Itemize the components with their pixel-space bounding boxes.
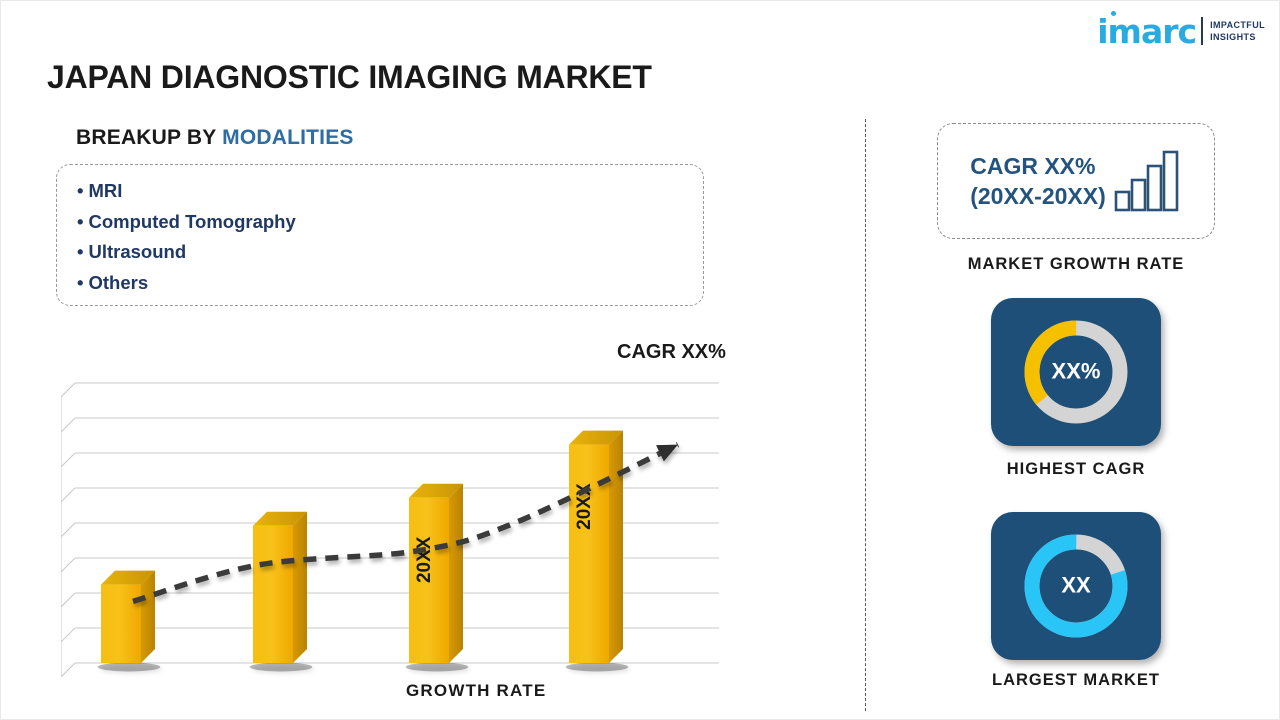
list-item: •MRI bbox=[77, 176, 296, 207]
largest-market-caption: LARGEST MARKET bbox=[937, 671, 1215, 690]
logo-divider bbox=[1201, 17, 1203, 45]
bullet-icon: • bbox=[77, 272, 83, 293]
cagr-box-text: CAGR XX% (20XX-20XX) bbox=[970, 151, 1106, 211]
bar bbox=[569, 431, 623, 663]
market-growth-rate-caption: MARKET GROWTH RATE bbox=[937, 255, 1215, 274]
cagr-box-line2: (20XX-20XX) bbox=[970, 183, 1106, 209]
logo-dot-icon bbox=[1111, 11, 1116, 16]
list-item-label: MRI bbox=[88, 180, 122, 201]
bullet-icon: • bbox=[77, 180, 83, 201]
bullet-icon: • bbox=[77, 211, 83, 232]
bar-chart-icon bbox=[1114, 150, 1182, 212]
highest-cagr-donut: XX% bbox=[1019, 315, 1133, 429]
list-item-label: Others bbox=[88, 272, 148, 293]
list-item-label: Computed Tomography bbox=[88, 211, 295, 232]
breakup-heading-accent: MODALITIES bbox=[222, 126, 354, 149]
list-item: •Ultrasound bbox=[77, 237, 296, 268]
chart-x-axis-label: GROWTH RATE bbox=[406, 681, 546, 701]
largest-market-donut: XX bbox=[1019, 529, 1133, 643]
logo-tagline-line2: INSIGHTS bbox=[1210, 32, 1256, 42]
logo-wordmark-text: imarc bbox=[1097, 12, 1196, 51]
bullet-icon: • bbox=[77, 241, 83, 262]
vertical-divider bbox=[865, 119, 866, 711]
bar-ground-shadows bbox=[98, 663, 628, 672]
imarc-logo: imarc IMPACTFUL INSIGHTS bbox=[1097, 11, 1265, 51]
breakup-heading: BREAKUP BY MODALITIES bbox=[76, 126, 354, 150]
list-item: •Others bbox=[77, 268, 296, 299]
logo-wordmark: imarc bbox=[1097, 15, 1196, 48]
list-item-label: Ultrasound bbox=[88, 241, 186, 262]
modality-list: •MRI •Computed Tomography •Ultrasound •O… bbox=[77, 176, 296, 298]
donut-chart-icon bbox=[1019, 529, 1133, 643]
highest-cagr-caption: HIGHEST CAGR bbox=[937, 460, 1215, 479]
chart-cagr-label: CAGR XX% bbox=[617, 341, 726, 364]
infographic-page: imarc IMPACTFUL INSIGHTS JAPAN DIAGNOSTI… bbox=[0, 0, 1280, 720]
growth-rate-bar-chart: 20XX20XX CAGR XX% GROWTH RATE bbox=[61, 331, 761, 711]
bar bbox=[101, 571, 155, 663]
list-item: •Computed Tomography bbox=[77, 207, 296, 238]
bar bbox=[253, 512, 307, 663]
market-growth-rate-box: CAGR XX% (20XX-20XX) bbox=[937, 123, 1215, 239]
modality-list-box: •MRI •Computed Tomography •Ultrasound •O… bbox=[56, 164, 704, 306]
largest-market-card: XX bbox=[991, 512, 1161, 660]
bar-value-label: 20XX bbox=[414, 536, 435, 583]
logo-tagline-line1: IMPACTFUL bbox=[1210, 20, 1265, 30]
donut-chart-icon bbox=[1019, 315, 1133, 429]
page-title: JAPAN DIAGNOSTIC IMAGING MARKET bbox=[47, 59, 652, 96]
logo-tagline: IMPACTFUL INSIGHTS bbox=[1210, 19, 1265, 43]
cagr-box-line1: CAGR XX% bbox=[970, 153, 1095, 179]
chart-canvas: 20XX20XX bbox=[61, 331, 761, 679]
breakup-heading-prefix: BREAKUP BY bbox=[76, 126, 222, 149]
highest-cagr-card: XX% bbox=[991, 298, 1161, 446]
